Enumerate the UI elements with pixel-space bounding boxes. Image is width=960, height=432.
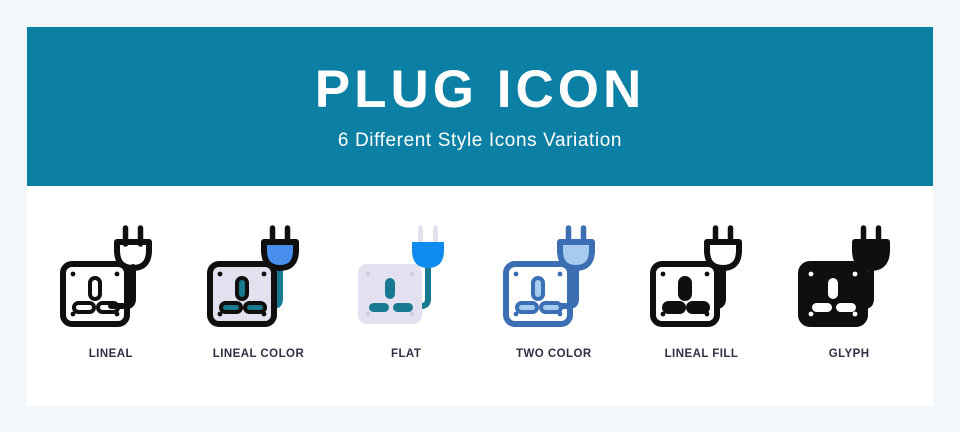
header-banner: PLUG ICON 6 Different Style Icons Variat… <box>27 27 933 186</box>
plug-socket-glyph-icon <box>793 220 905 332</box>
icon-variant-label: FLAT <box>391 348 421 360</box>
page-root: PLUG ICON 6 Different Style Icons Variat… <box>0 0 960 432</box>
icon-variant-lineal[interactable]: LINEAL <box>40 220 182 360</box>
page-subtitle: 6 Different Style Icons Variation <box>338 120 622 150</box>
icon-variant-label: LINEAL FILL <box>665 348 739 360</box>
plug-socket-lineal-icon <box>55 220 167 332</box>
icon-variant-label: LINEAL <box>89 348 133 360</box>
icon-variant-lineal-fill[interactable]: LINEAL FILL <box>630 220 772 360</box>
socket-earth-slot <box>90 278 100 299</box>
plug-pins <box>421 228 436 244</box>
icon-variant-lineal-color[interactable]: LINEAL COLOR <box>187 220 329 360</box>
icon-variant-label: LINEAL COLOR <box>213 348 304 360</box>
socket-earth-slot <box>385 278 395 299</box>
content-card: PLUG ICON 6 Different Style Icons Variat… <box>27 27 933 406</box>
plug-head <box>412 242 444 268</box>
icon-variant-glyph[interactable]: GLYPH <box>778 220 920 360</box>
plug-socket-flat-icon <box>350 220 462 332</box>
socket-earth-slot <box>237 278 247 299</box>
socket-earth-slot <box>828 278 838 299</box>
icon-variant-label: GLYPH <box>829 348 870 360</box>
plug-socket-two-color-icon <box>498 220 610 332</box>
plug-socket-lineal-fill-icon <box>645 220 757 332</box>
icon-gallery: LINEALLINEAL COLORFLATTWO COLORLINEAL FI… <box>27 186 933 406</box>
socket-earth-slot <box>680 278 690 299</box>
page-title: PLUG ICON <box>315 63 645 119</box>
socket-earth-slot <box>533 278 543 299</box>
icon-variant-label: TWO COLOR <box>516 348 592 360</box>
socket-pin-slots <box>517 303 561 312</box>
plug-socket-lineal-color-icon <box>202 220 314 332</box>
icon-variant-two-color[interactable]: TWO COLOR <box>483 220 625 360</box>
icon-variant-flat[interactable]: FLAT <box>335 220 477 360</box>
